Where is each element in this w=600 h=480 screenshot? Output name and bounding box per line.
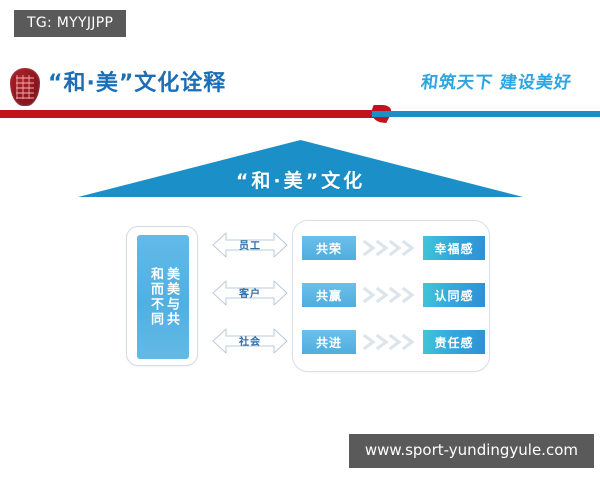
motto-card: 美美与共 和而不同 xyxy=(126,226,198,366)
values-panel: 共荣 幸福感 共赢 xyxy=(292,220,490,372)
banner-label: “和·美”文化 xyxy=(78,166,523,193)
arrow-society: 社会 xyxy=(212,326,288,356)
divider-red-segment xyxy=(0,110,378,118)
chevron-arrows-icon xyxy=(362,283,418,307)
motto-column-right: 美美与共 xyxy=(164,267,178,327)
tg-tag: TG: MYYJJPP xyxy=(14,10,126,37)
stakeholder-arrows: 员工 客户 社会 xyxy=(212,228,288,364)
arrow-label-customers: 客户 xyxy=(212,285,288,300)
red-seal-icon xyxy=(10,68,40,106)
site-watermark: www.sport-yundingyule.com xyxy=(349,434,594,468)
arrow-label-employees: 员工 xyxy=(212,237,288,252)
chevron-arrows-icon xyxy=(362,330,418,354)
value-result-chip: 幸福感 xyxy=(423,236,485,260)
page-title: “和·美”文化诠释 xyxy=(48,67,226,101)
divider-blue-segment xyxy=(372,111,600,117)
motto-card-inner: 美美与共 和而不同 xyxy=(137,235,189,359)
arrow-label-society: 社会 xyxy=(212,333,288,348)
arrow-customers: 客户 xyxy=(212,278,288,308)
arrow-employees: 员工 xyxy=(212,230,288,260)
value-source-chip: 共进 xyxy=(302,330,356,354)
value-row: 共进 责任感 xyxy=(302,330,482,354)
value-source-chip: 共赢 xyxy=(302,283,356,307)
value-result-chip: 认同感 xyxy=(423,283,485,307)
motto-column-left: 和而不同 xyxy=(148,267,162,327)
value-source-chip: 共荣 xyxy=(302,236,356,260)
culture-banner: “和·美”文化 xyxy=(78,140,523,202)
chevron-arrows-icon xyxy=(362,236,418,260)
value-row: 共赢 认同感 xyxy=(302,283,482,307)
header-slogan: 和筑天下 建设美好 xyxy=(419,70,573,96)
header-divider xyxy=(0,108,600,120)
value-row: 共荣 幸福感 xyxy=(302,236,482,260)
value-result-chip: 责任感 xyxy=(423,330,485,354)
